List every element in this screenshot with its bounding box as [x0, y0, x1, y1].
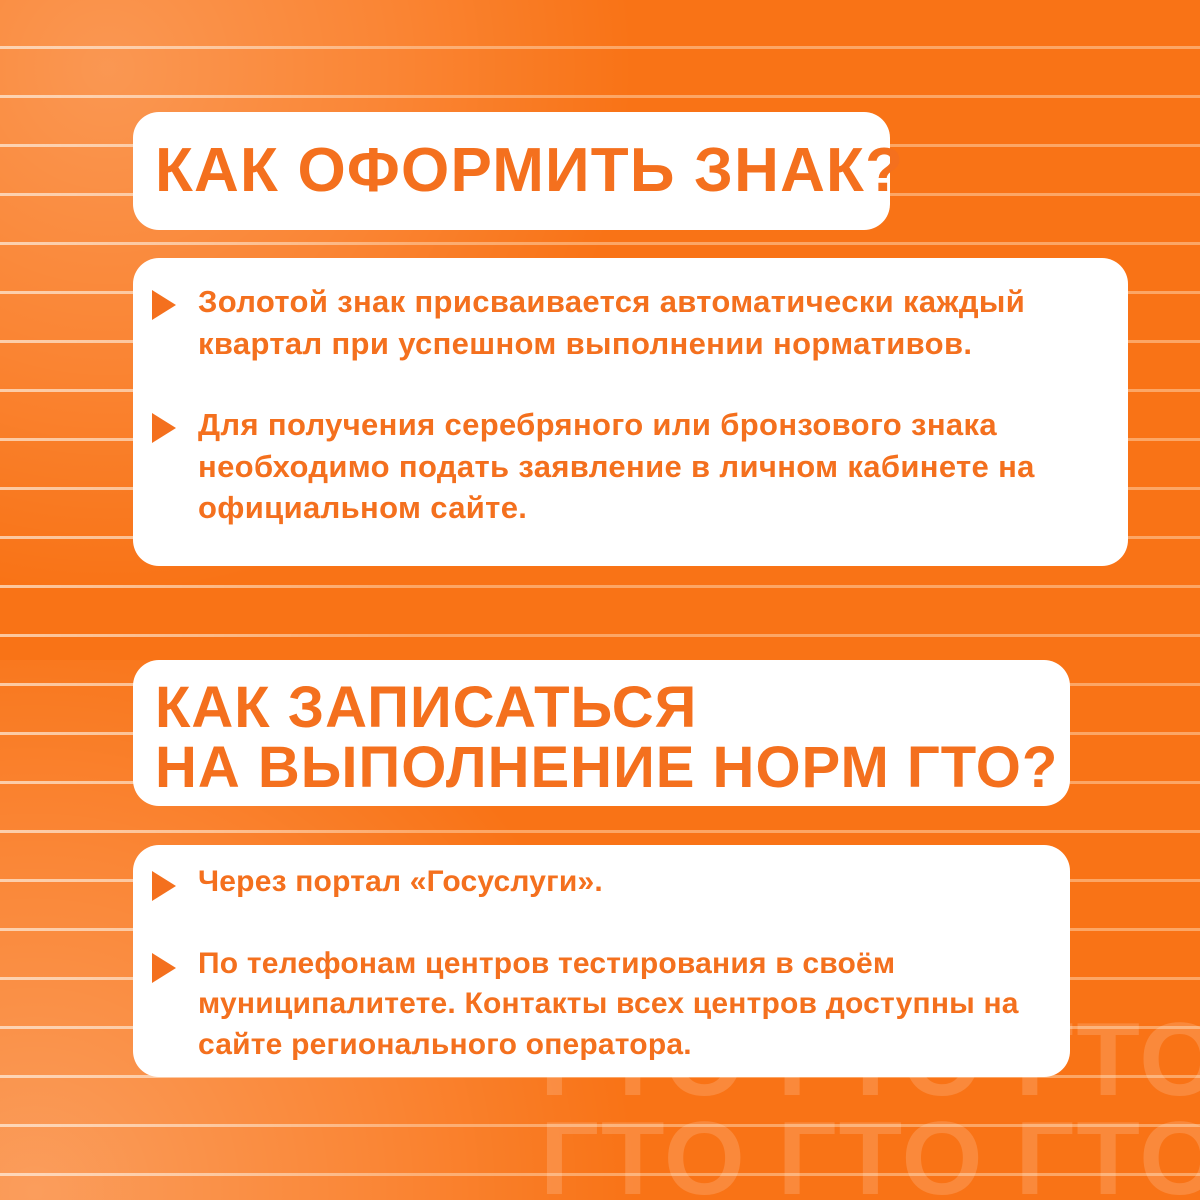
section-1-bullet-2-text: Для получения серебряного или бронзового…: [198, 404, 1137, 529]
section-2-bullet-list: Через портал «Госуслуги». По телефонам ц…: [152, 862, 1077, 1065]
list-item: Золотой знак присваивается автоматически…: [152, 281, 1137, 364]
list-item: Через портал «Госуслуги».: [152, 862, 1077, 902]
section-1-bullet-list: Золотой знак присваивается автоматически…: [152, 281, 1137, 529]
section-2-heading: КАК ЗАПИСАТЬСЯ НА ВЫПОЛНЕНИЕ НОРМ ГТО?: [155, 678, 1058, 797]
triangle-bullet-icon: [152, 290, 176, 320]
list-item: Для получения серебряного или бронзового…: [152, 404, 1137, 529]
section-1-bullet-1-text: Золотой знак присваивается автоматически…: [198, 281, 1137, 364]
list-item: По телефонам центров тестирования в своё…: [152, 944, 1077, 1065]
section-2-bullet-2-text: По телефонам центров тестирования в своё…: [198, 944, 1077, 1065]
poster-canvas: ГТО ГТО ГТО ГТО ГТО ГТО ГТО ГТО КАК ОФОР…: [0, 0, 1200, 1200]
section-2-heading-line-2: НА ВЫПОЛНЕНИЕ НОРМ ГТО?: [155, 738, 1058, 798]
section-1-heading: КАК ОФОРМИТЬ ЗНАК?: [155, 139, 904, 203]
triangle-bullet-icon: [152, 871, 176, 901]
triangle-bullet-icon: [152, 413, 176, 443]
triangle-bullet-icon: [152, 953, 176, 983]
section-2-bullet-1-text: Через портал «Госуслуги».: [198, 862, 603, 902]
section-2-heading-line-1: КАК ЗАПИСАТЬСЯ: [155, 678, 1058, 738]
